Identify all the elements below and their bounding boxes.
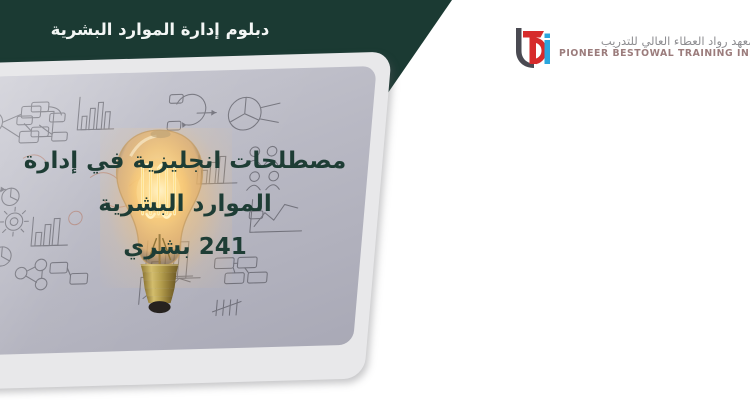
institute-name-english: PIONEER BESTOWAL TRAINING INSTITUTE xyxy=(559,48,750,61)
course-title-line-1: مصطلحات انجليزية في إدارة xyxy=(20,140,350,183)
course-title: مصطلحات انجليزية في إدارة الموارد البشري… xyxy=(20,140,350,270)
page-title: دبلوم إدارة الموارد البشرية xyxy=(40,20,280,39)
institute-logo: معهد رواد العطاء العالي للتدريب PIONEER … xyxy=(510,24,750,70)
institute-logo-text: معهد رواد العطاء العالي للتدريب PIONEER … xyxy=(559,34,750,61)
course-banner: دبلوم إدارة الموارد البشرية معهد رواد ال… xyxy=(0,0,750,400)
course-title-line-3: 241 بشري xyxy=(20,226,350,269)
pioneer-bestowal-logo-icon xyxy=(510,24,552,70)
course-title-line-2: الموارد البشرية xyxy=(20,183,350,226)
institute-name-arabic: معهد رواد العطاء العالي للتدريب xyxy=(559,34,750,48)
